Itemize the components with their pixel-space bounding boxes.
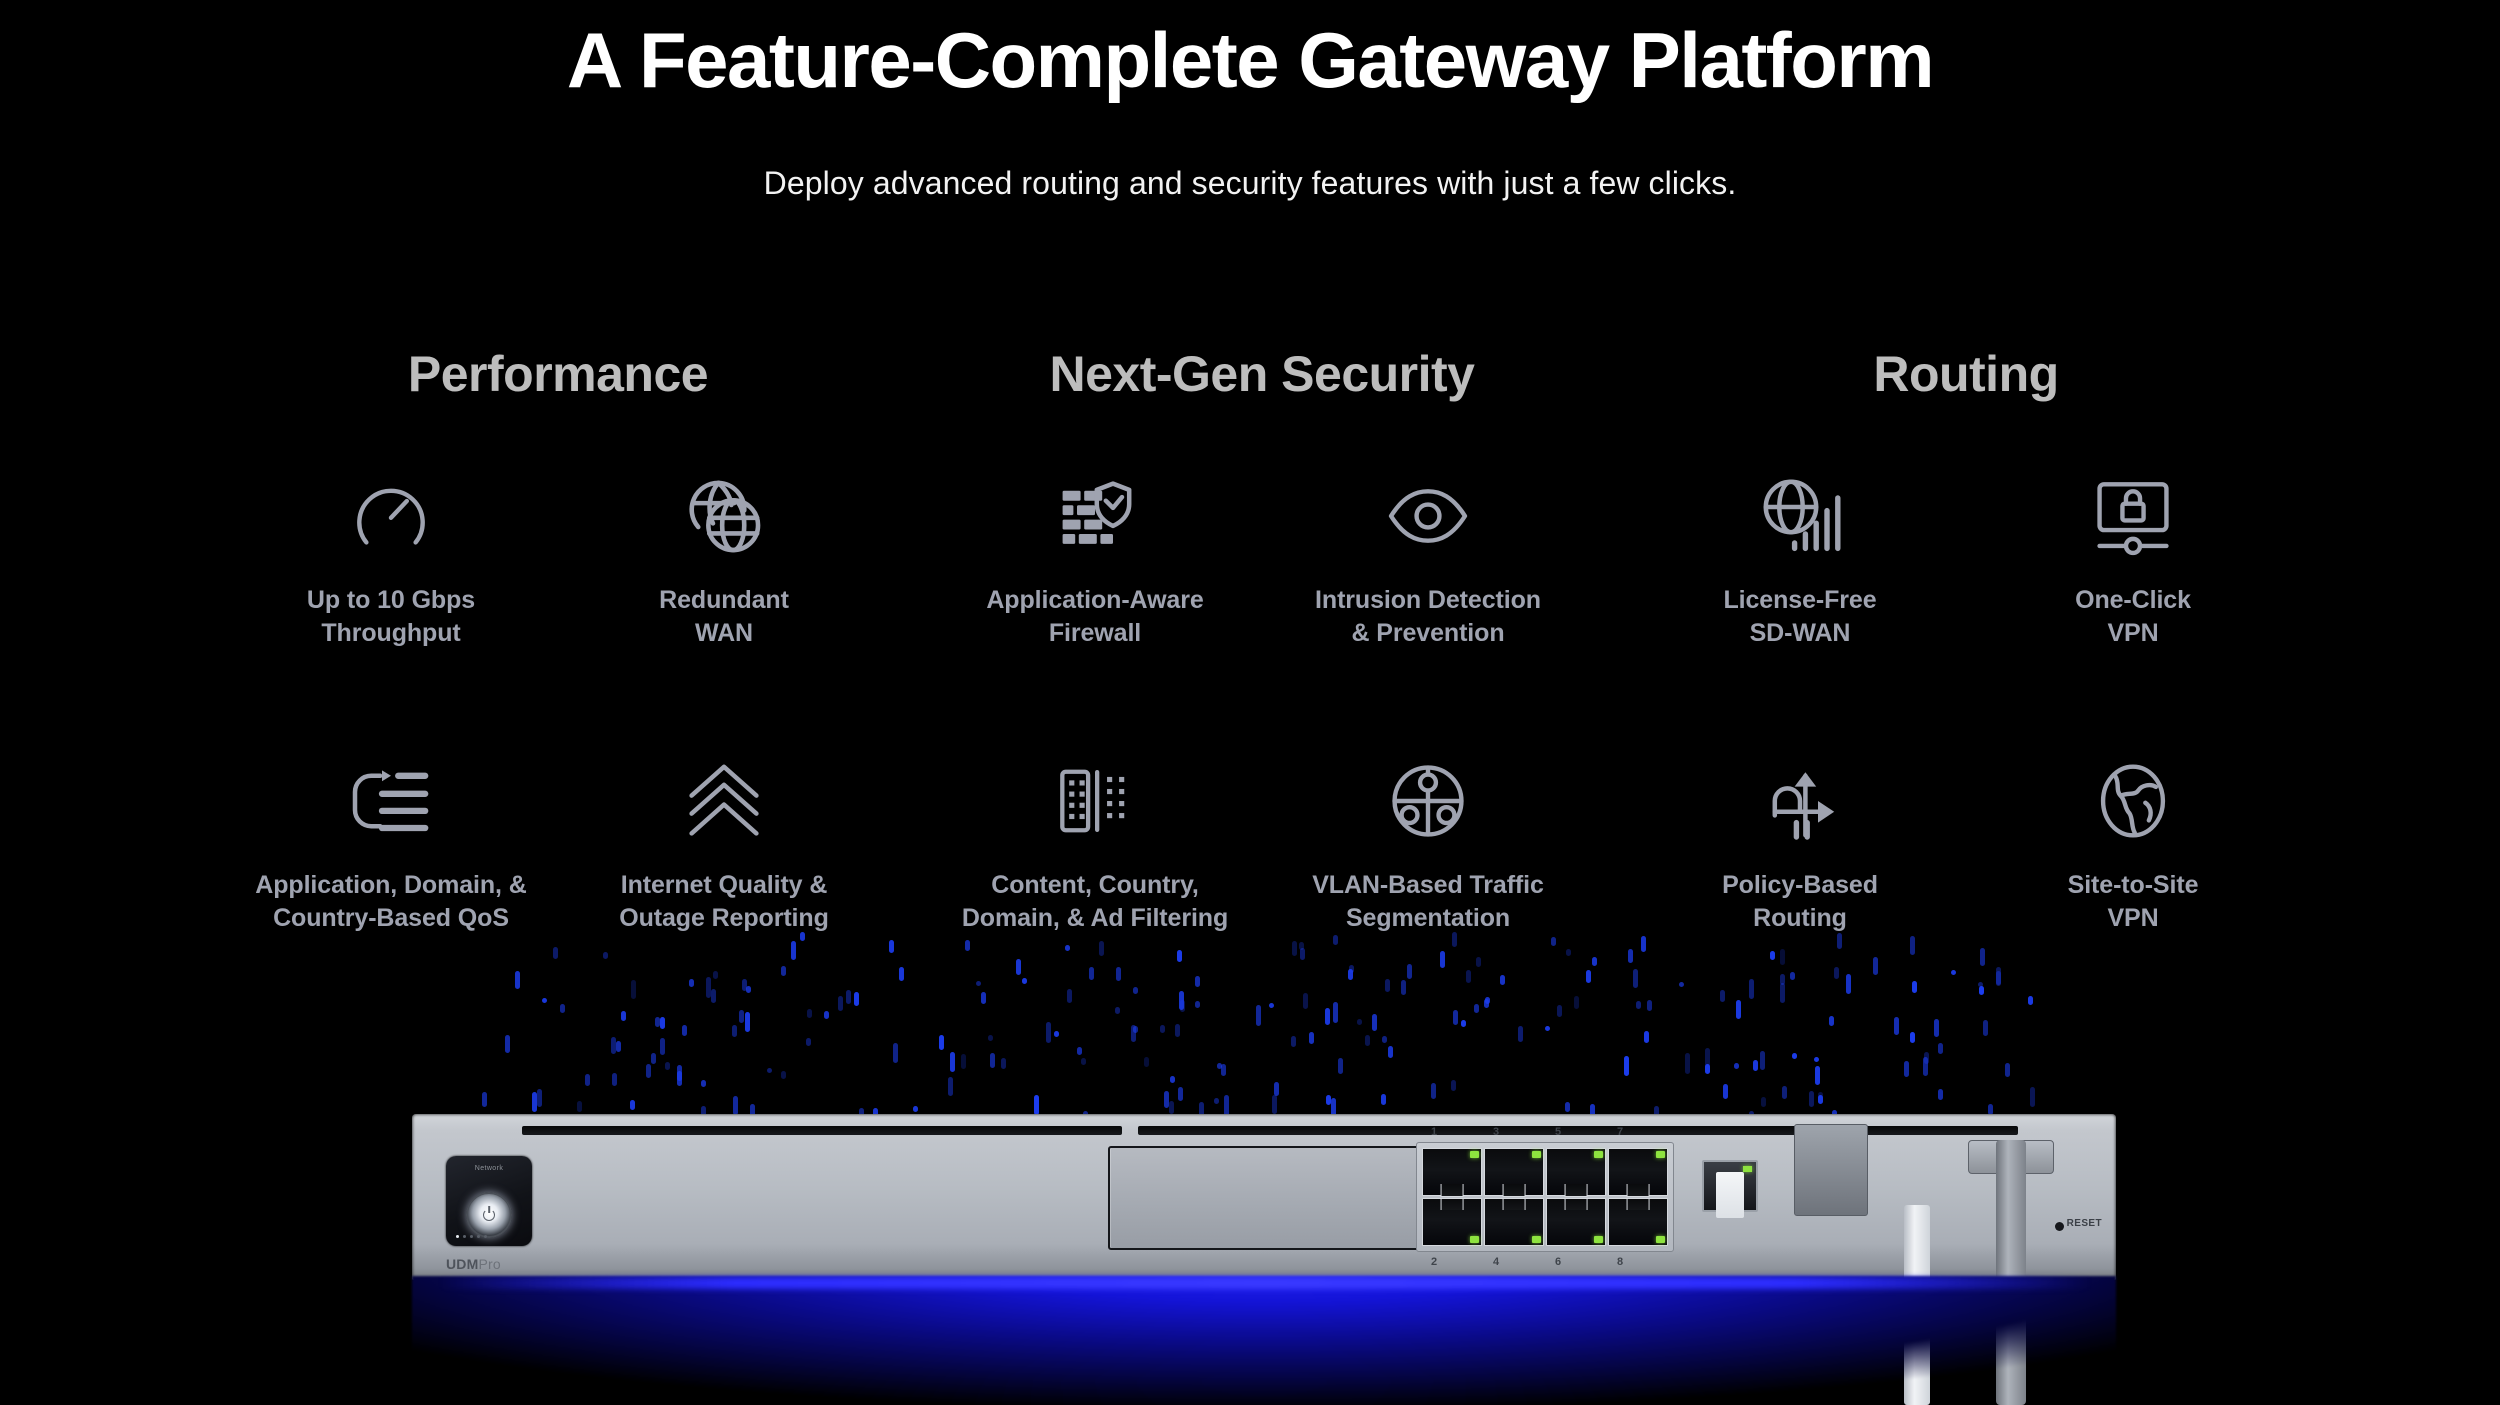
particle xyxy=(1461,1020,1466,1028)
vent-slot-right xyxy=(1138,1126,2018,1135)
particle xyxy=(1357,1019,1362,1025)
particle xyxy=(1837,933,1842,949)
particle xyxy=(1485,997,1490,1004)
particle xyxy=(1451,1080,1456,1091)
feature-redundant-wan: Redundant WAN xyxy=(559,470,889,650)
particle xyxy=(1385,979,1390,992)
sfp-led xyxy=(1743,1166,1752,1172)
globe-earth-icon xyxy=(1968,755,2298,847)
particle xyxy=(1912,981,1917,993)
feature-policy-routing: Policy-Based Routing xyxy=(1635,755,1965,935)
particle xyxy=(706,977,711,997)
particle xyxy=(732,1025,737,1037)
particle xyxy=(1685,1053,1690,1073)
particle xyxy=(1381,1094,1386,1106)
particle xyxy=(677,1071,682,1086)
particle xyxy=(791,941,796,960)
port-number-6: 6 xyxy=(1555,1256,1561,1268)
device-model-label: UDMPro xyxy=(446,1256,501,1272)
particle xyxy=(889,940,894,952)
port-number-7: 7 xyxy=(1617,1126,1623,1138)
particle xyxy=(781,1071,786,1079)
particle xyxy=(689,979,694,986)
particle xyxy=(1647,1000,1652,1011)
filter-sieve-icon xyxy=(930,755,1260,847)
power-icon xyxy=(483,1209,495,1221)
particle xyxy=(1518,1026,1523,1042)
particle xyxy=(1476,957,1481,966)
feature-caption: Application-Aware Firewall xyxy=(930,584,1260,650)
port-led xyxy=(1470,1236,1479,1243)
particle xyxy=(1401,980,1406,996)
feature-caption: VLAN-Based Traffic Segmentation xyxy=(1263,869,1593,935)
particle xyxy=(1115,1007,1120,1014)
particle xyxy=(1720,990,1725,1002)
particle xyxy=(913,1106,918,1113)
particle xyxy=(1365,1035,1370,1047)
particle xyxy=(1723,1084,1728,1099)
particle xyxy=(1081,1058,1086,1065)
particle xyxy=(621,1011,626,1021)
ethernet-port-8[interactable] xyxy=(1608,1198,1668,1246)
feature-site-to-site: Site-to-Site VPN xyxy=(1968,755,2298,935)
particle xyxy=(1217,1063,1222,1069)
particle xyxy=(1269,1003,1274,1008)
particle xyxy=(646,1064,651,1078)
feature-caption: Site-to-Site VPN xyxy=(1968,869,2298,935)
particle xyxy=(553,947,558,959)
feature-vlan-segment: VLAN-Based Traffic Segmentation xyxy=(1263,755,1593,935)
ethernet-port-4[interactable] xyxy=(1484,1198,1544,1246)
particle xyxy=(1484,999,1489,1008)
feature-throughput: Up to 10 Gbps Throughput xyxy=(226,470,556,650)
particle xyxy=(1338,1058,1343,1073)
particle xyxy=(1780,949,1785,966)
particle xyxy=(1474,1004,1479,1012)
particle xyxy=(1195,1001,1200,1008)
feature-caption: Application, Domain, & Country-Based QoS xyxy=(226,869,556,935)
particle xyxy=(1022,978,1027,983)
particle xyxy=(746,986,751,993)
particle xyxy=(660,1038,665,1055)
particle xyxy=(1180,1000,1185,1012)
particle xyxy=(1453,1010,1458,1026)
monitor-lock-icon xyxy=(1968,470,2298,562)
particle xyxy=(990,1053,995,1067)
particle xyxy=(1551,937,1556,945)
feature-caption: Redundant WAN xyxy=(559,584,889,650)
particle xyxy=(1016,959,1021,974)
feature-content-filter: Content, Country, Domain, & Ad Filtering xyxy=(930,755,1260,935)
particle xyxy=(1349,965,1354,974)
port-led xyxy=(1594,1236,1603,1243)
particle xyxy=(532,1092,537,1112)
particle xyxy=(807,1009,812,1018)
particle xyxy=(1846,974,1851,994)
particle xyxy=(1904,1061,1909,1077)
feature-caption: Content, Country, Domain, & Ad Filtering xyxy=(930,869,1260,935)
particle xyxy=(1348,969,1353,981)
particle xyxy=(767,1068,772,1074)
feature-qos: Application, Domain, & Country-Based QoS xyxy=(226,755,556,935)
particle xyxy=(781,966,786,976)
particle xyxy=(1761,1097,1766,1107)
particle xyxy=(1300,948,1305,960)
particle xyxy=(542,998,547,1003)
ethernet-port-3[interactable] xyxy=(1484,1148,1544,1196)
reset-button[interactable] xyxy=(2055,1222,2064,1231)
particle xyxy=(1624,1056,1629,1076)
port-led xyxy=(1532,1151,1541,1158)
column-heading-performance: Performance xyxy=(408,345,708,403)
particle xyxy=(1633,969,1638,988)
particle xyxy=(612,1073,617,1086)
firewall-shield-icon xyxy=(930,470,1260,562)
particle xyxy=(1705,1048,1710,1067)
ethernet-port-5[interactable] xyxy=(1546,1148,1606,1196)
particle xyxy=(1814,1057,1819,1062)
particle xyxy=(482,1092,487,1107)
particle xyxy=(742,979,747,992)
feature-caption: Intrusion Detection & Prevention xyxy=(1263,584,1593,650)
particle xyxy=(1753,1060,1758,1070)
particle xyxy=(1169,1101,1174,1114)
feature-outage-report: Internet Quality & Outage Reporting xyxy=(559,755,889,935)
particle xyxy=(1077,1047,1082,1056)
feature-one-click-vpn: One-Click VPN xyxy=(1968,470,2298,650)
feature-caption: Up to 10 Gbps Throughput xyxy=(226,584,556,650)
particle xyxy=(1299,942,1304,950)
particle xyxy=(1099,941,1104,955)
hero-section: A Feature-Complete Gateway Platform Depl… xyxy=(0,0,2500,1405)
particle xyxy=(1574,996,1579,1009)
particle xyxy=(1815,1066,1820,1085)
port-number-5: 5 xyxy=(1555,1126,1561,1138)
particle xyxy=(1116,967,1121,981)
particle xyxy=(1983,1020,1988,1036)
particle xyxy=(515,971,520,989)
particle xyxy=(682,1025,687,1035)
particle xyxy=(1054,1031,1059,1037)
particle xyxy=(2005,1063,2010,1076)
particle xyxy=(1133,1026,1138,1034)
particle xyxy=(1829,1016,1834,1026)
feature-ids-ips: Intrusion Detection & Prevention xyxy=(1263,470,1593,650)
particle xyxy=(1179,991,1184,1010)
particle xyxy=(1790,972,1795,980)
particle xyxy=(611,1037,616,1054)
particle xyxy=(1586,970,1591,983)
particle xyxy=(1274,1082,1279,1096)
particle xyxy=(660,1017,665,1028)
particle xyxy=(854,992,859,1007)
particle xyxy=(1628,949,1633,962)
particle xyxy=(1679,982,1684,987)
particle xyxy=(739,1010,744,1023)
particle xyxy=(1938,1089,1943,1100)
particle xyxy=(1780,974,1785,985)
eye-icon xyxy=(1263,470,1593,562)
column-headings: PerformanceNext-Gen SecurityRouting xyxy=(0,345,2500,415)
particle xyxy=(1144,1057,1149,1067)
particle xyxy=(616,1041,621,1052)
particle xyxy=(1291,1036,1296,1047)
route-arrows-icon xyxy=(1635,755,1965,847)
particle xyxy=(1089,967,1094,980)
ethernet-port-6[interactable] xyxy=(1546,1198,1606,1246)
particle xyxy=(1046,1022,1051,1043)
particle xyxy=(2030,1087,2035,1107)
particle xyxy=(1256,1005,1261,1026)
particle xyxy=(701,1080,706,1087)
particle xyxy=(1466,970,1471,983)
particle xyxy=(585,1074,590,1086)
port-number-2: 2 xyxy=(1431,1256,1437,1268)
particle xyxy=(2028,996,2033,1004)
particle xyxy=(846,990,851,1004)
particle xyxy=(1326,1095,1331,1106)
particle xyxy=(1034,1095,1039,1115)
particle xyxy=(988,1035,993,1041)
particle xyxy=(1644,1031,1649,1043)
port-led xyxy=(1594,1151,1603,1158)
particle xyxy=(713,971,718,980)
port-led xyxy=(1656,1151,1665,1158)
ethernet-port-1[interactable] xyxy=(1422,1148,1482,1196)
globe-signal-icon xyxy=(1635,470,1965,562)
particle xyxy=(1325,1008,1330,1025)
speedometer-icon xyxy=(226,470,556,562)
particle xyxy=(1440,951,1445,968)
sfp-plug-white xyxy=(1716,1172,1744,1218)
particle xyxy=(948,1077,953,1097)
feature-caption: License-Free SD-WAN xyxy=(1635,584,1965,650)
vent-slot-left xyxy=(522,1126,1122,1135)
particle xyxy=(1979,986,1984,995)
port-led xyxy=(1656,1236,1665,1243)
particle xyxy=(1818,1095,1823,1104)
particle xyxy=(711,989,716,1003)
particle xyxy=(939,1035,944,1051)
particle xyxy=(1224,1095,1229,1115)
particle xyxy=(976,981,981,986)
particle xyxy=(1178,1087,1183,1101)
page-title: A Feature-Complete Gateway Platform xyxy=(0,18,2500,102)
particle xyxy=(1431,1083,1436,1099)
feature-app-firewall: Application-Aware Firewall xyxy=(930,470,1260,650)
particle xyxy=(745,1012,750,1032)
data-stream-particles xyxy=(0,930,2500,1120)
port-led xyxy=(1532,1236,1541,1243)
particle xyxy=(1980,948,1985,966)
particle xyxy=(1557,1005,1562,1016)
port-number-3: 3 xyxy=(1493,1126,1499,1138)
particle xyxy=(1160,1025,1165,1033)
particle xyxy=(1177,950,1182,963)
column-heading-routing: Routing xyxy=(1873,345,2058,403)
particle xyxy=(1770,951,1775,960)
particle xyxy=(733,1096,738,1115)
particle xyxy=(1996,971,2001,986)
particle xyxy=(631,980,636,999)
particle xyxy=(1272,1095,1277,1114)
particle xyxy=(1133,987,1138,994)
feature-caption: Policy-Based Routing xyxy=(1635,869,1965,935)
double-globe-icon xyxy=(559,470,889,562)
status-led-row xyxy=(456,1235,487,1238)
particle xyxy=(1333,1002,1338,1022)
particle xyxy=(1749,979,1754,998)
segmented-circle-icon xyxy=(1263,755,1593,847)
particle xyxy=(893,1043,898,1064)
particle xyxy=(1780,983,1785,1002)
chevrons-up-icon xyxy=(559,755,889,847)
particle xyxy=(1565,1102,1570,1112)
particle xyxy=(824,1011,829,1018)
particle xyxy=(1372,1014,1377,1031)
device-underglow-core xyxy=(440,1277,2090,1289)
particle xyxy=(1065,945,1070,950)
power-button[interactable] xyxy=(466,1192,512,1238)
particle xyxy=(806,1038,811,1046)
particle xyxy=(1545,1026,1550,1031)
particle xyxy=(1382,1036,1387,1044)
particle xyxy=(1894,1017,1899,1035)
particle xyxy=(981,992,986,1004)
particle xyxy=(577,1101,582,1112)
port-number-1: 1 xyxy=(1431,1126,1437,1138)
particle xyxy=(961,1054,966,1069)
particle xyxy=(1292,941,1297,956)
reset-label: RESET xyxy=(2067,1218,2102,1229)
particle xyxy=(1500,975,1505,985)
particle xyxy=(1303,993,1308,1009)
particle xyxy=(1978,982,1983,987)
particle xyxy=(1951,970,1956,976)
particle xyxy=(630,1100,635,1110)
particle xyxy=(1705,1064,1710,1074)
particle xyxy=(1910,1032,1915,1044)
particle xyxy=(1195,976,1200,988)
particle xyxy=(1641,936,1646,952)
particle xyxy=(1734,1063,1739,1069)
particle xyxy=(1407,964,1412,979)
particle xyxy=(1566,949,1571,955)
particle xyxy=(1388,1046,1393,1058)
particle xyxy=(1834,967,1839,979)
particle xyxy=(1175,1024,1180,1037)
particle xyxy=(1001,1058,1006,1068)
feature-sd-wan: License-Free SD-WAN xyxy=(1635,470,1965,650)
particle xyxy=(950,1052,955,1072)
particle xyxy=(1809,1091,1814,1108)
particle xyxy=(665,1062,670,1071)
port-number-8: 8 xyxy=(1617,1256,1623,1268)
particle xyxy=(560,1004,565,1013)
page-subtitle: Deploy advanced routing and security fea… xyxy=(0,165,2500,202)
port-led xyxy=(1470,1151,1479,1158)
sfp-bracket xyxy=(1794,1124,1868,1216)
particle xyxy=(1164,1091,1169,1108)
particle xyxy=(655,1017,660,1028)
particle xyxy=(603,952,608,960)
priority-list-icon xyxy=(226,755,556,847)
particle xyxy=(1923,1057,1928,1076)
particle xyxy=(1910,936,1915,955)
particle xyxy=(505,1035,510,1053)
particle xyxy=(1938,1043,1943,1055)
pod-label: Network xyxy=(446,1165,532,1172)
device-display-pod[interactable]: Network xyxy=(446,1156,532,1246)
particle xyxy=(651,1053,656,1065)
particle xyxy=(1592,957,1597,966)
particle xyxy=(1309,1032,1314,1044)
udm-pro-device: Network UDMPro 13572468 RESET xyxy=(412,1114,2116,1280)
ethernet-port-7[interactable] xyxy=(1608,1148,1668,1196)
particle xyxy=(1736,1000,1741,1018)
column-heading-next-gen-security: Next-Gen Security xyxy=(1050,345,1475,403)
particle xyxy=(1924,1052,1929,1064)
device-underglow xyxy=(412,1276,2116,1405)
feature-caption: Internet Quality & Outage Reporting xyxy=(559,869,889,935)
particle xyxy=(838,996,843,1011)
particle xyxy=(1818,1092,1823,1098)
particle xyxy=(1873,957,1878,976)
particle xyxy=(1934,1019,1939,1037)
particle xyxy=(677,1065,682,1081)
particle xyxy=(537,1089,542,1107)
particle xyxy=(965,940,970,952)
particle xyxy=(899,967,904,981)
particle xyxy=(1333,935,1338,945)
particle xyxy=(1221,1064,1226,1076)
particle xyxy=(1214,1098,1219,1104)
ethernet-port-block: 13572468 xyxy=(1416,1142,1674,1252)
particle xyxy=(1782,1086,1787,1099)
particle xyxy=(1067,989,1072,1003)
ethernet-port-2[interactable] xyxy=(1422,1198,1482,1246)
particle xyxy=(1996,967,2001,985)
particle xyxy=(1760,1051,1765,1070)
particle xyxy=(1636,1001,1641,1010)
particle xyxy=(1131,1025,1136,1042)
port-number-4: 4 xyxy=(1493,1256,1499,1268)
particle xyxy=(1170,1076,1175,1083)
particle xyxy=(1792,1053,1797,1058)
feature-caption: One-Click VPN xyxy=(1968,584,2298,650)
